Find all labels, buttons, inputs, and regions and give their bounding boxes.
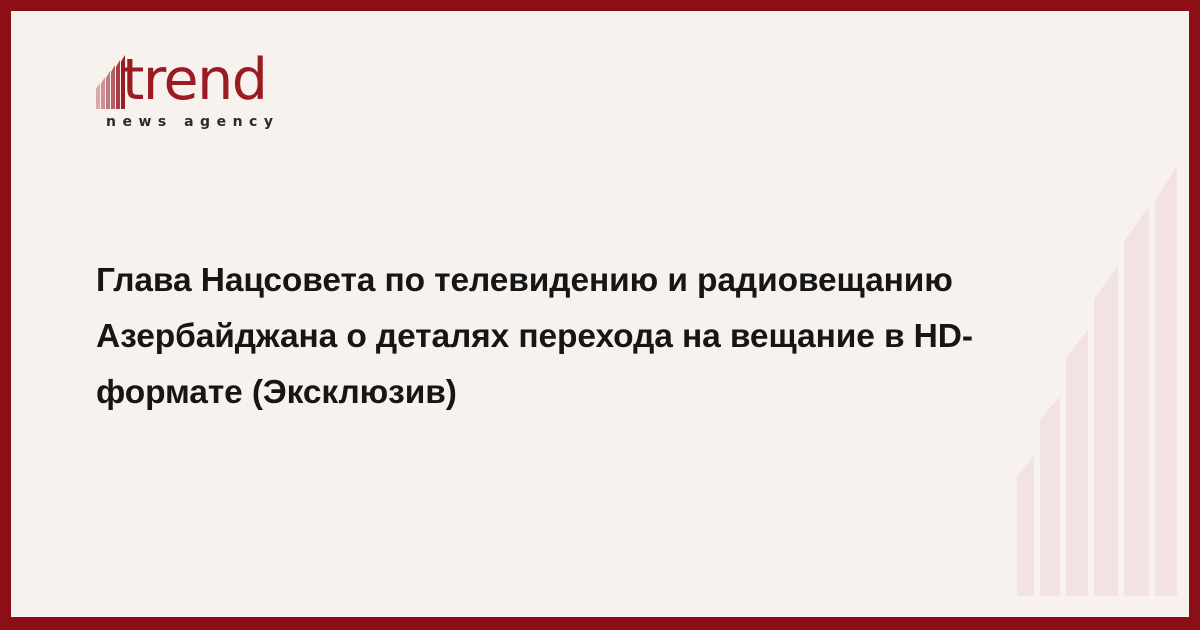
card-canvas: trend news agency Глава Нацсовета по тел… [11,11,1189,617]
article-headline: Глава Нацсовета по телевидению и радиове… [96,253,1016,421]
logo-wordmark-row: trend [96,49,396,111]
logo-mark-bar-4 [111,65,115,109]
watermark-bar-3 [1066,329,1088,596]
watermark-bar-1 [1017,456,1034,596]
watermark-bar-6 [1155,166,1177,596]
logo-mark-bar-1 [96,83,100,109]
logo-mark-bar-3 [106,71,110,109]
watermark-bar-2 [1040,396,1060,596]
news-share-card: trend news agency Глава Нацсовета по тел… [0,0,1200,630]
trend-bars-watermark-icon [1017,166,1167,596]
trend-logo[interactable]: trend news agency [96,49,396,141]
logo-tagline: news agency [106,113,279,131]
logo-mark-bar-2 [101,77,105,109]
logo-wordmark: trend [122,49,266,111]
logo-mark-bar-5 [116,60,120,109]
watermark-bar-4 [1094,266,1118,596]
watermark-bar-5 [1124,206,1149,596]
